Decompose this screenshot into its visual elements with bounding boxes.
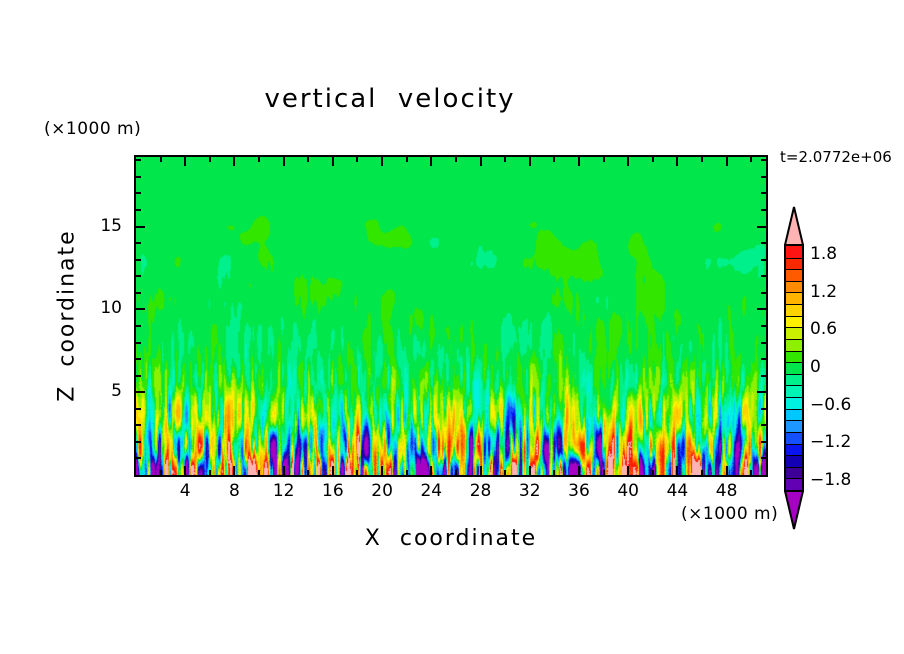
- colorbar-band: [786, 339, 802, 351]
- y-axis-tick: [136, 308, 145, 310]
- x-axis-tick: [184, 466, 186, 475]
- x-axis-tick-top: [184, 157, 186, 166]
- colorbar: 1.81.20.60−0.6−1.2−1.8: [784, 206, 804, 528]
- colorbar-tick-label: −1.8: [810, 470, 851, 490]
- x-axis-tick-top: [381, 157, 383, 166]
- colorbar-tick-label: 1.8: [810, 244, 837, 264]
- colorbar-band: [786, 258, 802, 270]
- colorbar-tick-label: 0: [810, 357, 821, 377]
- x-axis-tick: [676, 466, 678, 475]
- y-axis-tick: [136, 192, 141, 194]
- y-axis-tick: [136, 424, 141, 426]
- colorbar-band: [786, 432, 802, 444]
- colorbar-tick-label: −1.2: [810, 432, 851, 452]
- y-axis-tick: [136, 259, 141, 261]
- colorbar-band-separator: [786, 292, 802, 293]
- x-axis-tick: [307, 470, 309, 475]
- colorbar-band: [786, 420, 802, 432]
- x-axis-tick-top: [504, 157, 506, 162]
- colorbar-band: [786, 292, 802, 304]
- y-axis-tick-right: [757, 391, 766, 393]
- colorbar-band-separator: [786, 316, 802, 317]
- y-axis-tick-right: [761, 408, 766, 410]
- x-axis-tick-top: [332, 157, 334, 166]
- x-axis-tick: [627, 466, 629, 475]
- x-axis-tick: [283, 466, 285, 475]
- colorbar-band-separator: [786, 374, 802, 375]
- x-axis-tick-label: 8: [209, 481, 259, 501]
- y-axis-tick-right: [761, 325, 766, 327]
- colorbar-under-arrow-icon: [784, 490, 804, 530]
- y-axis-tick-right: [761, 192, 766, 194]
- x-axis-tick-top: [258, 157, 260, 162]
- x-axis-tick: [750, 470, 752, 475]
- time-annotation: t=2.0772e+06: [780, 148, 892, 166]
- x-axis-tick-top: [652, 157, 654, 162]
- y-axis-tick-right: [761, 292, 766, 294]
- x-axis-tick-label: 12: [259, 481, 309, 501]
- x-axis-tick-top: [209, 157, 211, 162]
- y-axis-tick: [136, 325, 141, 327]
- colorbar-band: [786, 362, 802, 374]
- x-axis-tick: [160, 470, 162, 475]
- x-axis-tick-label: 28: [456, 481, 506, 501]
- colorbar-band: [786, 397, 802, 409]
- x-axis-tick-top: [455, 157, 457, 162]
- x-axis-tick-label: 44: [652, 481, 702, 501]
- y-axis-tick: [136, 408, 141, 410]
- colorbar-band-separator: [786, 420, 802, 421]
- x-axis-tick-label: 4: [160, 481, 210, 501]
- x-axis-tick-label: 16: [308, 481, 358, 501]
- colorbar-band: [786, 467, 802, 479]
- x-axis-tick-top: [676, 157, 678, 166]
- y-axis-tick: [136, 292, 141, 294]
- colorbar-band-separator: [786, 339, 802, 340]
- x-axis-tick: [258, 470, 260, 475]
- x-axis-tick: [381, 466, 383, 475]
- y-axis-tick-label: 5: [72, 381, 122, 401]
- x-axis-tick: [430, 466, 432, 475]
- colorbar-tick-label: 1.2: [810, 282, 837, 302]
- x-axis-tick-top: [480, 157, 482, 166]
- y-axis-tick: [136, 159, 141, 161]
- colorbar-band-separator: [786, 304, 802, 305]
- y-axis-tick-right: [761, 441, 766, 443]
- y-axis-tick-right: [761, 424, 766, 426]
- y-axis-tick: [136, 242, 141, 244]
- x-axis-tick-label: 36: [554, 481, 604, 501]
- y-axis-tick: [136, 457, 141, 459]
- plot-area: [134, 155, 768, 477]
- velocity-field-heatmap: [136, 157, 766, 475]
- x-axis-tick: [553, 470, 555, 475]
- colorbar-band: [786, 327, 802, 339]
- colorbar-band-separator: [786, 351, 802, 352]
- y-axis-tick: [136, 375, 141, 377]
- y-axis-tick: [136, 226, 145, 228]
- colorbar-tick-label: 0.6: [810, 319, 837, 339]
- x-axis-tick: [529, 466, 531, 475]
- figure-root: vertical velocity (×1000 m) (×1000 m) X …: [0, 0, 904, 654]
- y-axis-tick-right: [761, 457, 766, 459]
- y-axis-tick-right: [761, 259, 766, 261]
- colorbar-band: [786, 351, 802, 363]
- x-axis-tick: [480, 466, 482, 475]
- y-axis-tick: [136, 391, 145, 393]
- x-axis-tick-top: [627, 157, 629, 166]
- x-axis-tick: [332, 466, 334, 475]
- colorbar-band-separator: [786, 478, 802, 479]
- x-axis-tick-top: [578, 157, 580, 166]
- y-axis-unit-label: (×1000 m): [44, 119, 141, 139]
- x-axis-tick-top: [553, 157, 555, 162]
- x-axis-tick: [701, 470, 703, 475]
- x-axis-tick-top: [430, 157, 432, 166]
- colorbar-band-separator: [786, 258, 802, 259]
- x-axis-tick-top: [406, 157, 408, 162]
- colorbar-band-separator: [786, 327, 802, 328]
- x-axis-tick: [652, 470, 654, 475]
- colorbar-band-separator: [786, 362, 802, 363]
- colorbar-band-separator: [786, 455, 802, 456]
- colorbar-band-separator: [786, 385, 802, 386]
- y-axis-tick-right: [757, 308, 766, 310]
- x-axis-tick: [356, 470, 358, 475]
- y-axis-tick: [136, 358, 141, 360]
- x-axis-tick-top: [307, 157, 309, 162]
- x-axis-tick-top: [283, 157, 285, 166]
- x-axis-tick-label: 24: [406, 481, 456, 501]
- colorbar-tick-label: −0.6: [810, 395, 851, 415]
- x-axis-tick-label: 20: [357, 481, 407, 501]
- x-axis-tick-top: [750, 157, 752, 162]
- colorbar-band: [786, 374, 802, 386]
- x-axis-tick: [504, 470, 506, 475]
- colorbar-band-separator: [786, 281, 802, 282]
- y-axis-tick-label: 10: [72, 298, 122, 318]
- colorbar-band: [786, 246, 802, 258]
- x-axis-tick: [233, 466, 235, 475]
- colorbar-band-separator: [786, 467, 802, 468]
- colorbar-band: [786, 444, 802, 456]
- y-axis-tick-right: [761, 358, 766, 360]
- x-axis-tick: [578, 466, 580, 475]
- colorbar-band: [786, 409, 802, 421]
- colorbar-band: [786, 478, 802, 490]
- y-axis-tick-right: [761, 159, 766, 161]
- y-axis-tick-right: [761, 275, 766, 277]
- colorbar-band: [786, 269, 802, 281]
- x-axis-tick: [455, 470, 457, 475]
- x-axis-tick-top: [356, 157, 358, 162]
- x-axis-tick-label: 48: [702, 481, 752, 501]
- x-axis-tick-top: [160, 157, 162, 162]
- colorbar-band: [786, 385, 802, 397]
- y-axis-tick-right: [761, 242, 766, 244]
- colorbar-band-separator: [786, 269, 802, 270]
- x-axis-tick-label: 32: [505, 481, 555, 501]
- x-axis-tick-top: [603, 157, 605, 162]
- x-axis-unit-label: (×1000 m): [681, 504, 778, 524]
- colorbar-band-separator: [786, 432, 802, 433]
- x-axis-tick: [406, 470, 408, 475]
- y-axis-tick-right: [757, 226, 766, 228]
- x-axis-tick-top: [529, 157, 531, 166]
- page-title: vertical velocity: [0, 84, 780, 114]
- colorbar-band-separator: [786, 444, 802, 445]
- y-axis-tick-right: [761, 342, 766, 344]
- x-axis-tick: [603, 470, 605, 475]
- colorbar-band: [786, 455, 802, 467]
- y-axis-tick: [136, 342, 141, 344]
- colorbar-band-separator: [786, 397, 802, 398]
- y-axis-tick-label: 15: [72, 216, 122, 236]
- y-axis-tick: [136, 441, 141, 443]
- y-axis-tick-right: [761, 176, 766, 178]
- x-axis-tick-label: 40: [603, 481, 653, 501]
- x-axis-tick-top: [233, 157, 235, 166]
- x-axis-tick: [209, 470, 211, 475]
- x-axis-tick-top: [726, 157, 728, 166]
- colorbar-band: [786, 281, 802, 293]
- y-axis-tick-right: [761, 209, 766, 211]
- x-axis-tick: [726, 466, 728, 475]
- y-axis-tick: [136, 176, 141, 178]
- y-axis-tick-right: [761, 375, 766, 377]
- colorbar-band-separator: [786, 409, 802, 410]
- colorbar-bands: [784, 244, 804, 492]
- colorbar-over-arrow-icon: [784, 206, 804, 246]
- y-axis-tick: [136, 209, 141, 211]
- y-axis-tick: [136, 275, 141, 277]
- x-axis-tick-top: [701, 157, 703, 162]
- colorbar-band: [786, 304, 802, 316]
- x-axis-title: X coordinate: [134, 526, 768, 551]
- colorbar-band: [786, 316, 802, 328]
